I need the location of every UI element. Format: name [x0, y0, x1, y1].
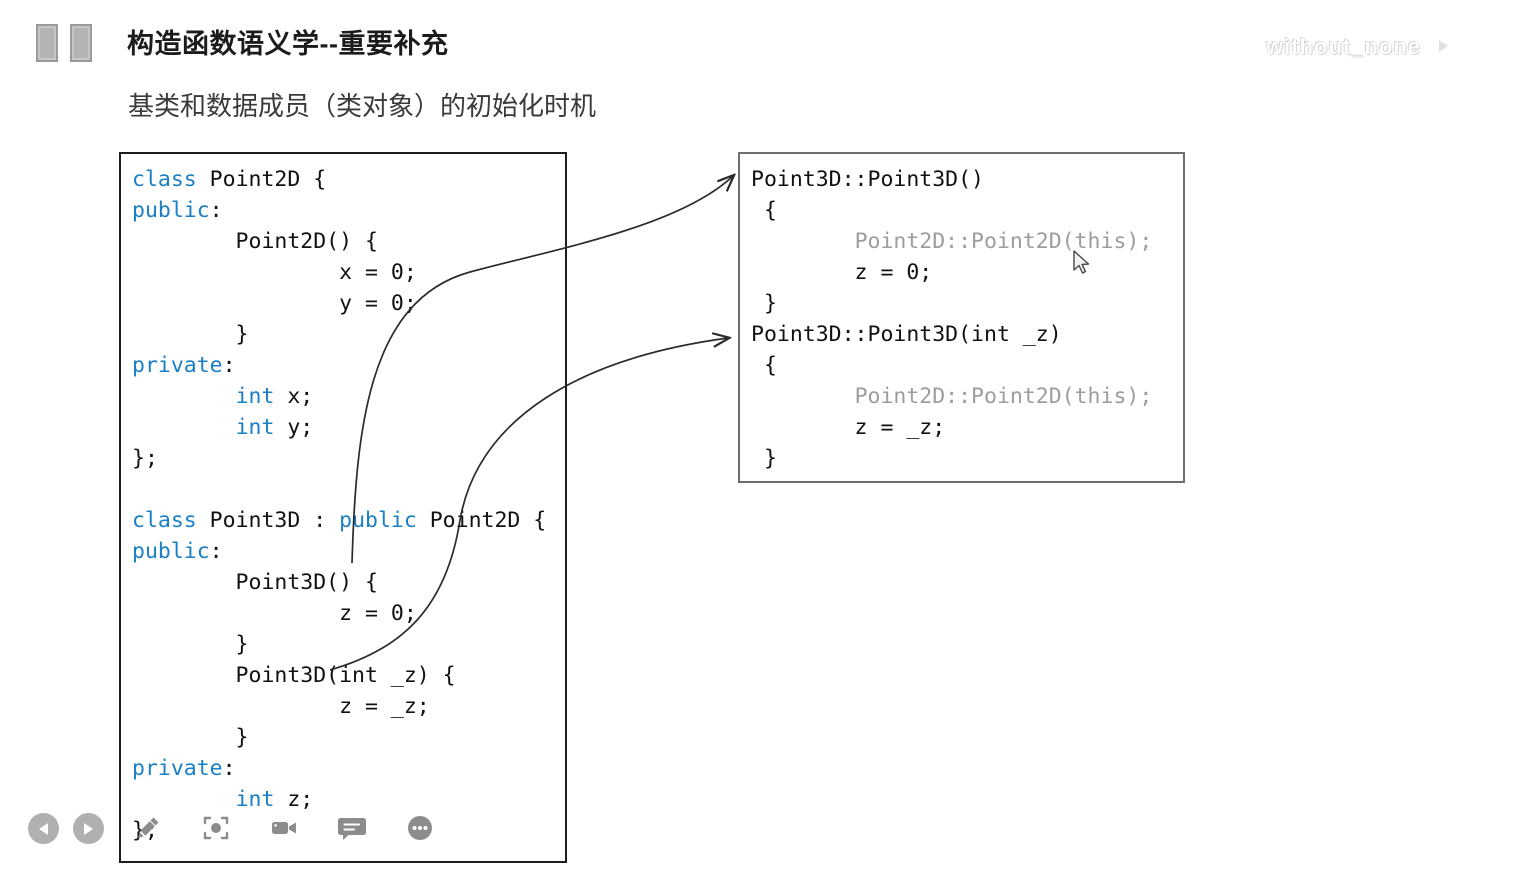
code-line: z = _z; [751, 412, 1183, 443]
code-text: Point3D : [197, 508, 339, 533]
code-text: { [751, 353, 777, 378]
code-inserted-call: Point2D::Point2D(this); [855, 384, 1153, 409]
code-line: Point2D() { [132, 226, 565, 257]
code-line: { [751, 195, 1183, 226]
code-keyword: private [132, 756, 223, 781]
code-keyword: int [236, 384, 275, 409]
code-line: { [751, 350, 1183, 381]
code-line: z = 0; [132, 598, 565, 629]
code-keyword: int [236, 415, 275, 440]
prev-part-button[interactable] [28, 813, 59, 844]
code-text: Point2D { [417, 508, 546, 533]
code-text: } [132, 322, 249, 347]
code-text: Point2D() { [132, 229, 378, 254]
page-subtitle: 基类和数据成员（类对象）的初始化时机 [128, 86, 596, 123]
code-text [132, 384, 236, 409]
code-text [132, 415, 236, 440]
code-text [751, 229, 855, 254]
code-line: class Point2D { [132, 164, 565, 195]
code-text: Point3D::Point3D(int _z) [751, 322, 1062, 347]
code-line: Point3D::Point3D(int _z) [751, 319, 1183, 350]
code-text: }; [132, 446, 158, 471]
code-text: } [132, 725, 249, 750]
code-keyword: public [339, 508, 417, 533]
code-text: : [223, 756, 236, 781]
code-text: } [751, 446, 777, 471]
page-title: 构造函数语义学--重要补充 [127, 22, 448, 61]
code-line: x = 0; [132, 257, 565, 288]
code-line: } [751, 443, 1183, 474]
code-text: } [132, 632, 249, 657]
code-line: Point2D::Point2D(this); [751, 226, 1183, 257]
code-block-generated-constructors: Point3D::Point3D() { Point2D::Point2D(th… [738, 152, 1185, 483]
subtitle-icon[interactable] [337, 813, 367, 843]
code-text: z = _z; [132, 694, 430, 719]
video-camera-icon[interactable] [269, 813, 299, 843]
code-line: z = 0; [751, 257, 1183, 288]
play-left-triangle-icon [37, 822, 50, 836]
code-line: private: [132, 350, 565, 381]
code-inserted-call: Point2D::Point2D(this); [855, 229, 1153, 254]
code-text: } [751, 291, 777, 316]
more-icon[interactable] [405, 813, 435, 843]
tofu-box-icon [70, 24, 92, 62]
code-line: } [132, 319, 565, 350]
code-keyword: private [132, 353, 223, 378]
code-text: x; [274, 384, 313, 409]
code-line: y = 0; [132, 288, 565, 319]
code-line: Point2D::Point2D(this); [751, 381, 1183, 412]
screenshot-icon[interactable] [201, 813, 231, 843]
code-line: z = _z; [132, 691, 565, 722]
code-text: y; [274, 415, 313, 440]
code-text: x = 0; [132, 260, 417, 285]
code-keyword: public [132, 198, 210, 223]
code-block-class-declarations: class Point2D {public: Point2D() { x = 0… [119, 152, 567, 863]
code-line: int x; [132, 381, 565, 412]
code-keyword: int [236, 787, 275, 812]
code-text: z = _z; [751, 415, 945, 440]
code-keyword: public [132, 539, 210, 564]
code-text: z; [274, 787, 313, 812]
code-line: class Point3D : public Point2D { [132, 505, 565, 536]
code-line: private: [132, 753, 565, 784]
tofu-box-icon [36, 24, 58, 62]
code-text: { [751, 198, 777, 223]
code-text [132, 787, 236, 812]
code-line: public: [132, 195, 565, 226]
code-keyword: class [132, 167, 197, 192]
play-right-triangle-icon [82, 822, 95, 836]
code-text: Point3D() { [132, 570, 378, 595]
code-line: Point3D() { [132, 567, 565, 598]
code-line: } [132, 629, 565, 660]
code-text: z = 0; [751, 260, 932, 285]
code-text: Point2D { [197, 167, 326, 192]
code-keyword: class [132, 508, 197, 533]
code-text: Point3D(int _z) { [132, 663, 456, 688]
code-line: } [751, 288, 1183, 319]
code-text: : [210, 539, 223, 564]
pencil-icon[interactable] [133, 813, 163, 843]
player-nav-controls [28, 813, 104, 844]
slide-header: 构造函数语义学--重要补充 基类和数据成员（类对象）的初始化时机 [0, 0, 1513, 140]
code-text: Point3D::Point3D() [751, 167, 984, 192]
code-line: Point3D::Point3D() [751, 164, 1183, 195]
title-bullet-icons [36, 24, 92, 62]
code-text: : [210, 198, 223, 223]
code-text [751, 384, 855, 409]
code-line: Point3D(int _z) { [132, 660, 565, 691]
code-line: } [132, 722, 565, 753]
code-text: z = 0; [132, 601, 417, 626]
code-line: int y; [132, 412, 565, 443]
code-text: : [223, 353, 236, 378]
code-line [132, 474, 565, 505]
player-toolbar [133, 813, 435, 843]
next-part-button[interactable] [73, 813, 104, 844]
code-line: }; [132, 443, 565, 474]
code-line: public: [132, 536, 565, 567]
code-text: y = 0; [132, 291, 417, 316]
code-line: int z; [132, 784, 565, 815]
